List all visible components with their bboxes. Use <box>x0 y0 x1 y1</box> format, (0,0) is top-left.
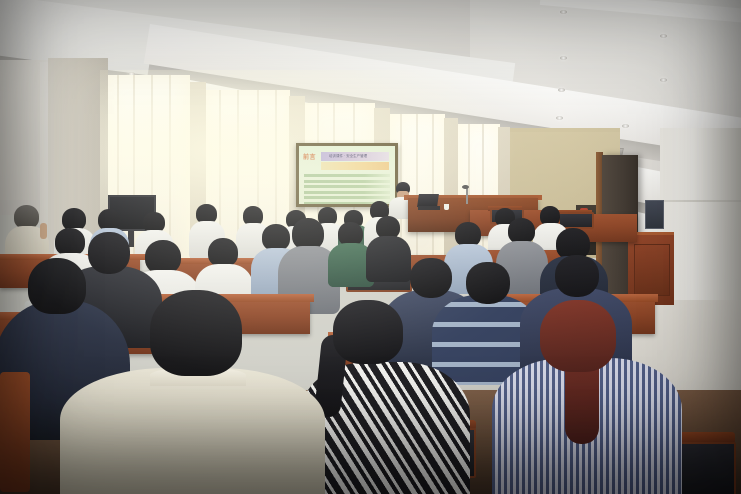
slide-title: 前言 <box>303 152 316 161</box>
attendee-front-darkblue-head <box>410 258 452 298</box>
attendee-front-dark-shirt-head <box>88 232 130 274</box>
attendee-front-navy-tshirt-head <box>28 258 86 314</box>
attendee-front-ponytail-woman-head <box>333 300 403 364</box>
slide-subtitle: 培训课件 · 安全生产管理 <box>329 154 367 159</box>
slide-band-bottom <box>321 162 389 170</box>
attendee-front-beige-jacket-body <box>60 368 325 494</box>
torso <box>366 236 411 282</box>
head <box>262 224 290 251</box>
attendee-front-redhair-woman-head <box>540 300 616 372</box>
hand <box>40 223 47 239</box>
downlight-icon <box>660 34 667 38</box>
cabinet-door[interactable] <box>634 244 670 296</box>
microphone-icon <box>462 185 469 189</box>
attendee-front-striped-head <box>466 262 510 304</box>
attendee-front-navy-head <box>555 255 599 297</box>
attendee-front-beige-jacket-head <box>150 290 242 376</box>
laptop-keyboard[interactable] <box>418 206 440 210</box>
downlight-icon <box>560 56 567 60</box>
wall-control-panel[interactable] <box>645 200 664 229</box>
downlight-icon <box>660 78 667 82</box>
water-cup <box>444 204 449 210</box>
microphone-stem <box>466 188 468 204</box>
head <box>208 238 238 267</box>
downlight-icon <box>558 88 565 92</box>
projection-screen: 前言 培训课件 · 安全生产管理 <box>296 143 398 207</box>
projected-slide: 前言 培训课件 · 安全生产管理 <box>299 146 395 204</box>
downlight-icon <box>560 10 567 14</box>
downlight-icon <box>622 124 629 128</box>
meeting-room-photo: 前言 培训课件 · 安全生产管理 <box>0 0 741 494</box>
head <box>145 240 181 274</box>
pillar-seam <box>660 200 741 202</box>
downlight-icon <box>556 116 563 120</box>
head <box>55 228 85 256</box>
chair-arm[interactable] <box>0 372 30 492</box>
slide-body-text <box>304 174 390 201</box>
